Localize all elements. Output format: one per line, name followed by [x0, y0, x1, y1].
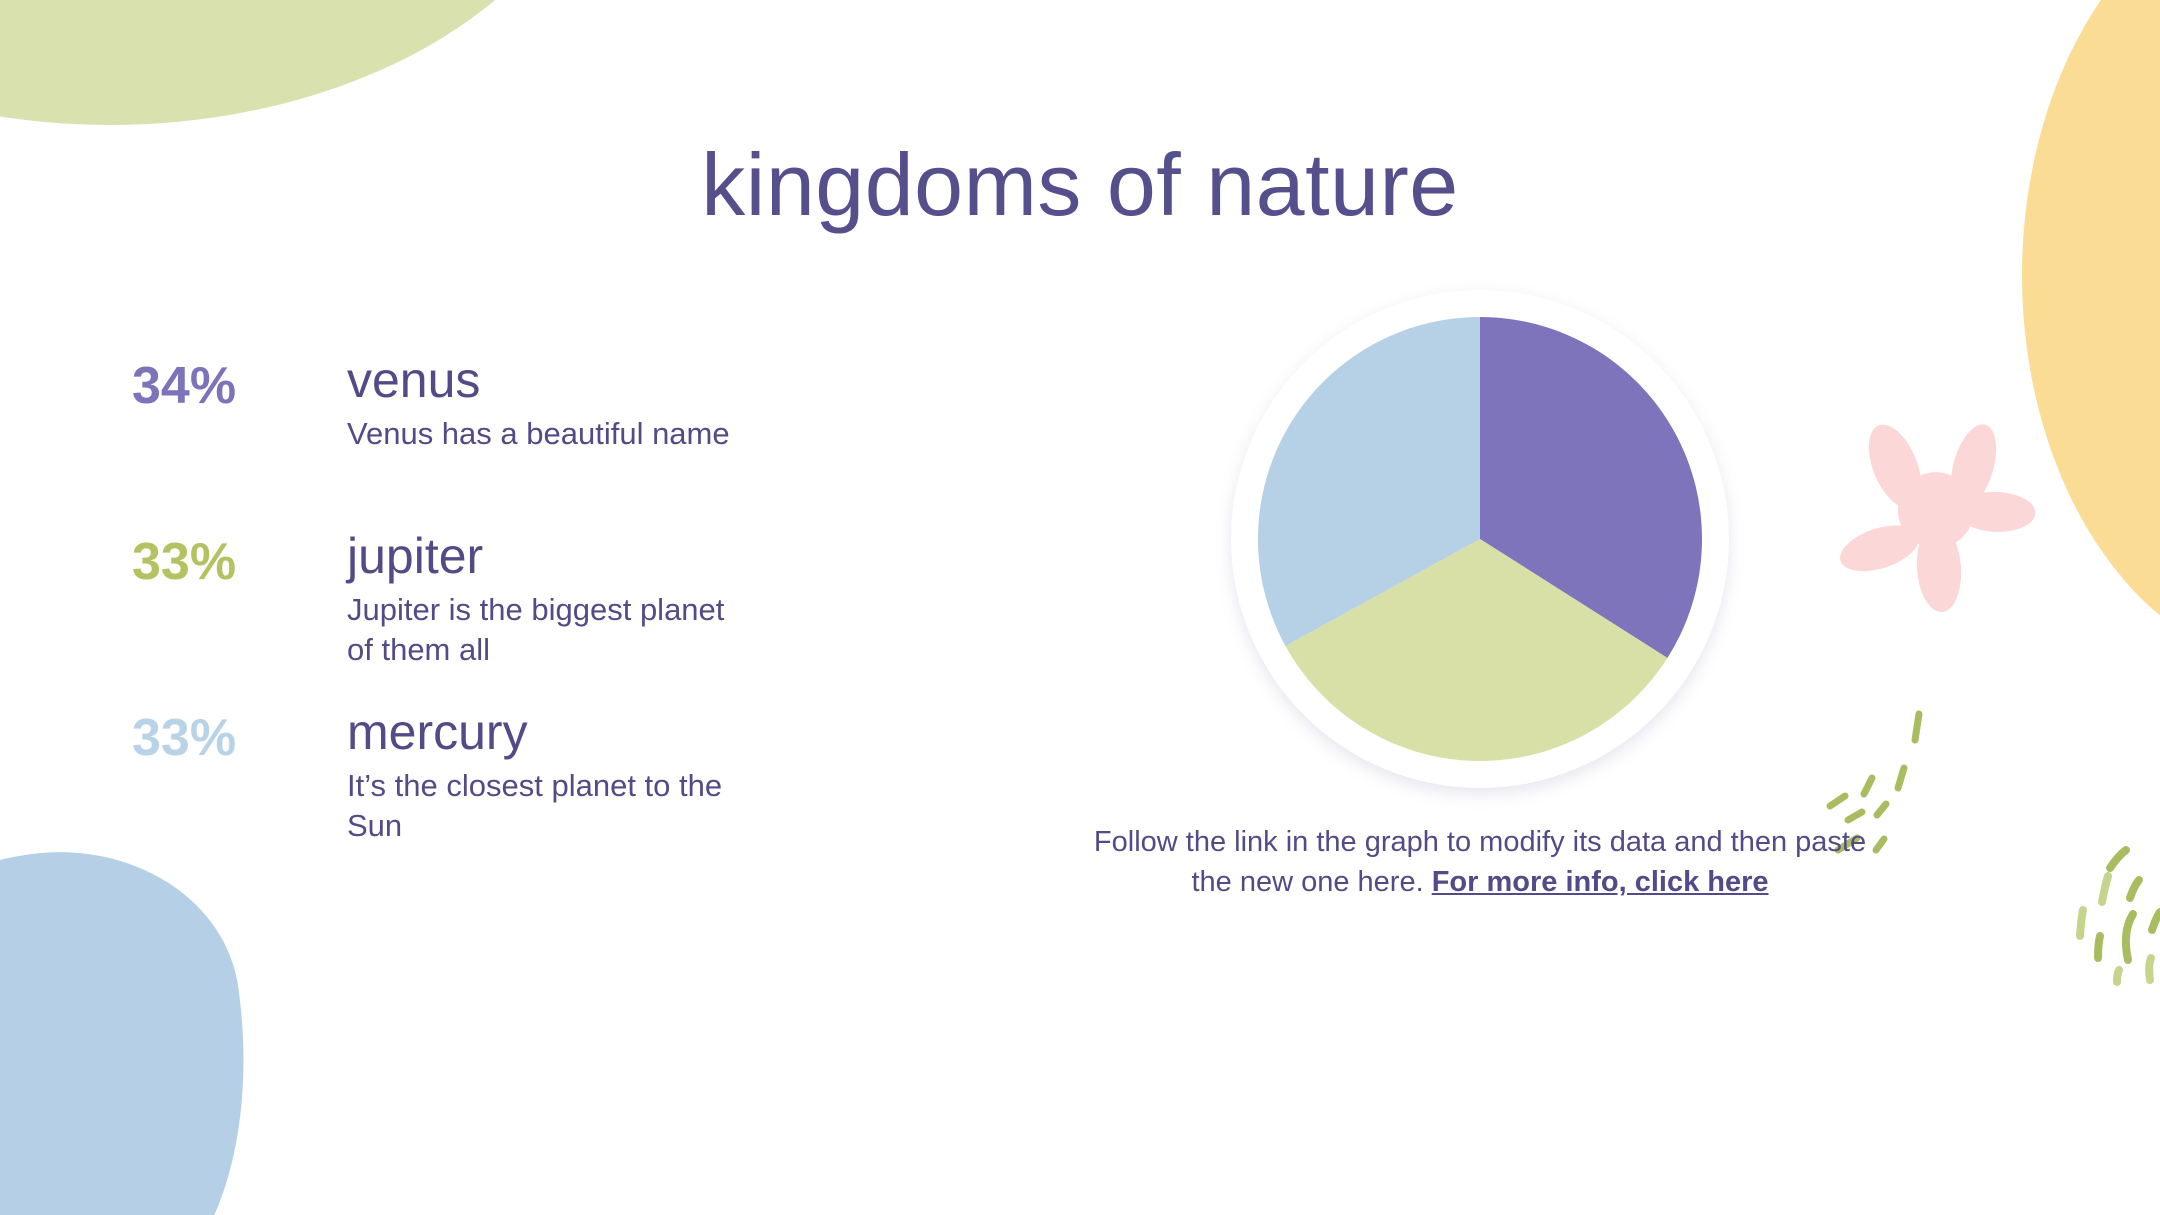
green-dashes-icon: [2010, 830, 2160, 1110]
green-blob-decoration: [0, 0, 610, 125]
stat-body-jupiter: jupiter Jupiter is the biggest planet of…: [347, 528, 732, 669]
yellow-ellipse-decoration: [2022, 0, 2160, 670]
slide-canvas: kingdoms of nature 34% venus Venus has a…: [0, 0, 2160, 1215]
stat-name-venus: venus: [347, 352, 732, 408]
stat-body-mercury: mercury It’s the closest planet to the S…: [347, 704, 732, 845]
stat-description-mercury: It’s the closest planet to the Sun: [347, 766, 732, 845]
stat-percent-venus: 34%: [132, 360, 322, 412]
stat-percent-mercury: 33%: [132, 712, 322, 764]
chart-more-info-link[interactable]: For more info, click here: [1432, 866, 1769, 898]
chart-caption: Follow the link in the graph to modify i…: [1070, 822, 1890, 902]
stat-body-venus: venus Venus has a beautiful name: [347, 352, 732, 454]
stats-list: 34% venus Venus has a beautiful name 33%…: [132, 352, 732, 880]
stat-name-mercury: mercury: [347, 704, 732, 760]
stat-percent-jupiter: 33%: [132, 536, 322, 588]
page-title: kingdoms of nature: [0, 141, 2160, 229]
stat-name-jupiter: jupiter: [347, 528, 732, 584]
pie-chart[interactable]: [1231, 290, 1729, 788]
stat-item-jupiter: 33% jupiter Jupiter is the biggest plane…: [132, 528, 732, 704]
stat-description-jupiter: Jupiter is the biggest planet of them al…: [347, 590, 732, 669]
pie-chart-svg[interactable]: [1258, 317, 1702, 761]
chart-area: Follow the link in the graph to modify i…: [1070, 290, 1890, 902]
stat-item-mercury: 33% mercury It’s the closest planet to t…: [132, 704, 732, 880]
stat-item-venus: 34% venus Venus has a beautiful name: [132, 352, 732, 528]
stat-description-venus: Venus has a beautiful name: [347, 414, 732, 454]
blue-blob-decoration: [0, 828, 280, 1215]
